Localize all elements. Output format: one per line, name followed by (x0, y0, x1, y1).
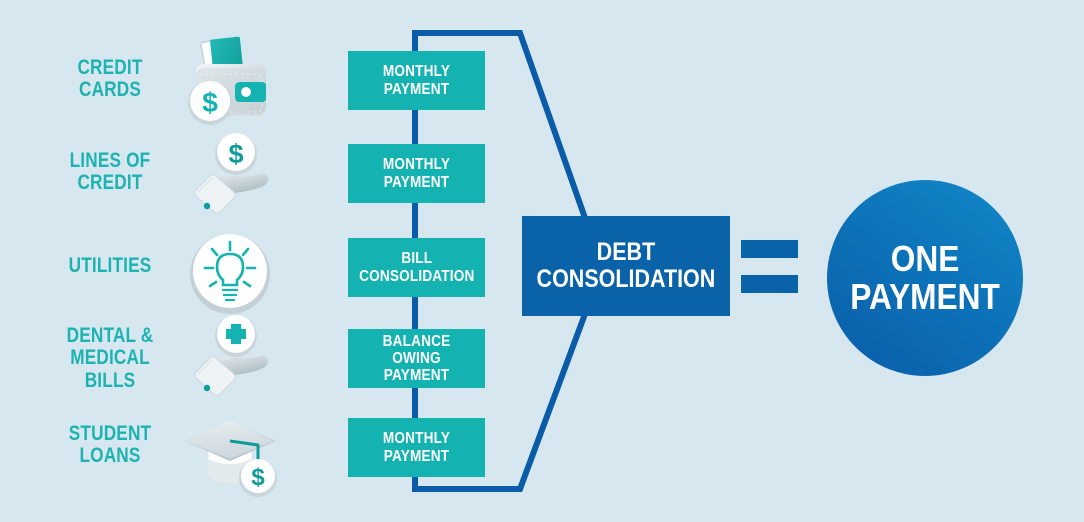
category-label-student-loans: STUDENT LOANS (44, 423, 175, 468)
payment-box-label: BALANCE OWING PAYMENT (358, 333, 474, 385)
one-payment-label: ONE PAYMENT (850, 240, 1000, 316)
payment-box-label: MONTHLY PAYMENT (383, 156, 450, 191)
payment-box-label: MONTHLY PAYMENT (383, 63, 450, 98)
svg-text:$: $ (251, 464, 265, 491)
lightbulb-circle-icon (178, 220, 282, 324)
category-label-lines-of-credit: LINES OF CREDIT (44, 150, 175, 195)
hand-dollar-coin-icon: $ (178, 128, 282, 232)
hand-medical-cross-icon (178, 312, 282, 416)
svg-text:$: $ (202, 87, 218, 118)
one-payment-circle: ONE PAYMENT (827, 180, 1023, 376)
payment-box: MONTHLY PAYMENT (348, 418, 485, 477)
category-label-utilities: UTILITIES (44, 255, 175, 277)
payment-box: MONTHLY PAYMENT (348, 144, 485, 203)
payment-box: BILL CONSOLIDATION (348, 238, 485, 297)
category-label-credit-cards: CREDIT CARDS (44, 57, 175, 102)
payment-box: MONTHLY PAYMENT (348, 51, 485, 110)
equals-sign-bar-top (741, 240, 798, 258)
infographic-canvas: CREDIT CARDS (0, 0, 1084, 522)
svg-text:$: $ (228, 139, 243, 169)
payment-box-label: MONTHLY PAYMENT (383, 430, 450, 465)
graduation-cap-dollar-icon: $ (178, 405, 282, 509)
debt-consolidation-label: DEBT CONSOLIDATION (537, 239, 716, 294)
equals-sign-bar-bottom (741, 275, 798, 293)
category-label-dental-medical-bills: DENTAL & MEDICAL BILLS (44, 325, 175, 392)
debt-consolidation-box: DEBT CONSOLIDATION (522, 216, 730, 316)
payment-box: BALANCE OWING PAYMENT (348, 329, 485, 388)
payment-box-label: BILL CONSOLIDATION (359, 250, 474, 285)
wallet-money-icon: $ (178, 32, 282, 136)
